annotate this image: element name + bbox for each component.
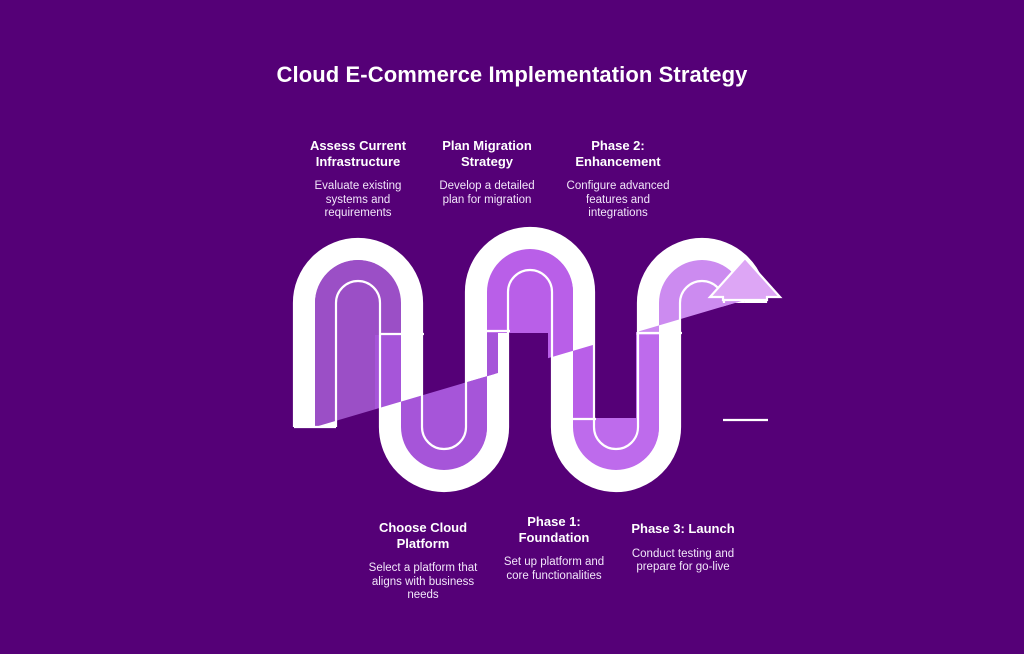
step-label-plan-migration-strategy: Plan Migration Strategy Develop a detail…: [428, 138, 546, 207]
step-description: Develop a detailed plan for migration: [428, 180, 546, 207]
step-description: Set up platform and core functionalities: [492, 556, 616, 583]
step-label-phase-1-foundation: Phase 1: Foundation Set up platform and …: [492, 514, 616, 583]
step-description: Select a platform that aligns with busin…: [361, 562, 485, 603]
diagram-canvas: Cloud E-Commerce Implementation Strategy: [0, 0, 1024, 654]
step-title: Plan Migration Strategy: [428, 138, 546, 169]
step-title: Phase 1: Foundation: [492, 514, 616, 545]
step-title: Assess Current Infrastructure: [296, 138, 420, 169]
step-label-phase-3-launch: Phase 3: Launch Conduct testing and prep…: [621, 521, 745, 575]
flow-ribbon: [280, 225, 780, 500]
step-title: Phase 3: Launch: [621, 521, 745, 537]
step-description: Conduct testing and prepare for go-live: [621, 548, 745, 575]
step-description: Evaluate existing systems and requiremen…: [296, 180, 420, 221]
segment-6-fill: [722, 420, 768, 500]
step-title: Choose Cloud Platform: [361, 520, 485, 551]
step-title: Phase 2: Enhancement: [556, 138, 680, 169]
step-label-choose-cloud-platform: Choose Cloud Platform Select a platform …: [361, 520, 485, 603]
ribbon-color-bands: [280, 225, 768, 500]
step-label-phase-2-enhancement: Phase 2: Enhancement Configure advanced …: [556, 138, 680, 221]
step-description: Configure advanced features and integrat…: [556, 180, 680, 221]
step-label-assess-current-infrastructure: Assess Current Infrastructure Evaluate e…: [296, 138, 420, 221]
